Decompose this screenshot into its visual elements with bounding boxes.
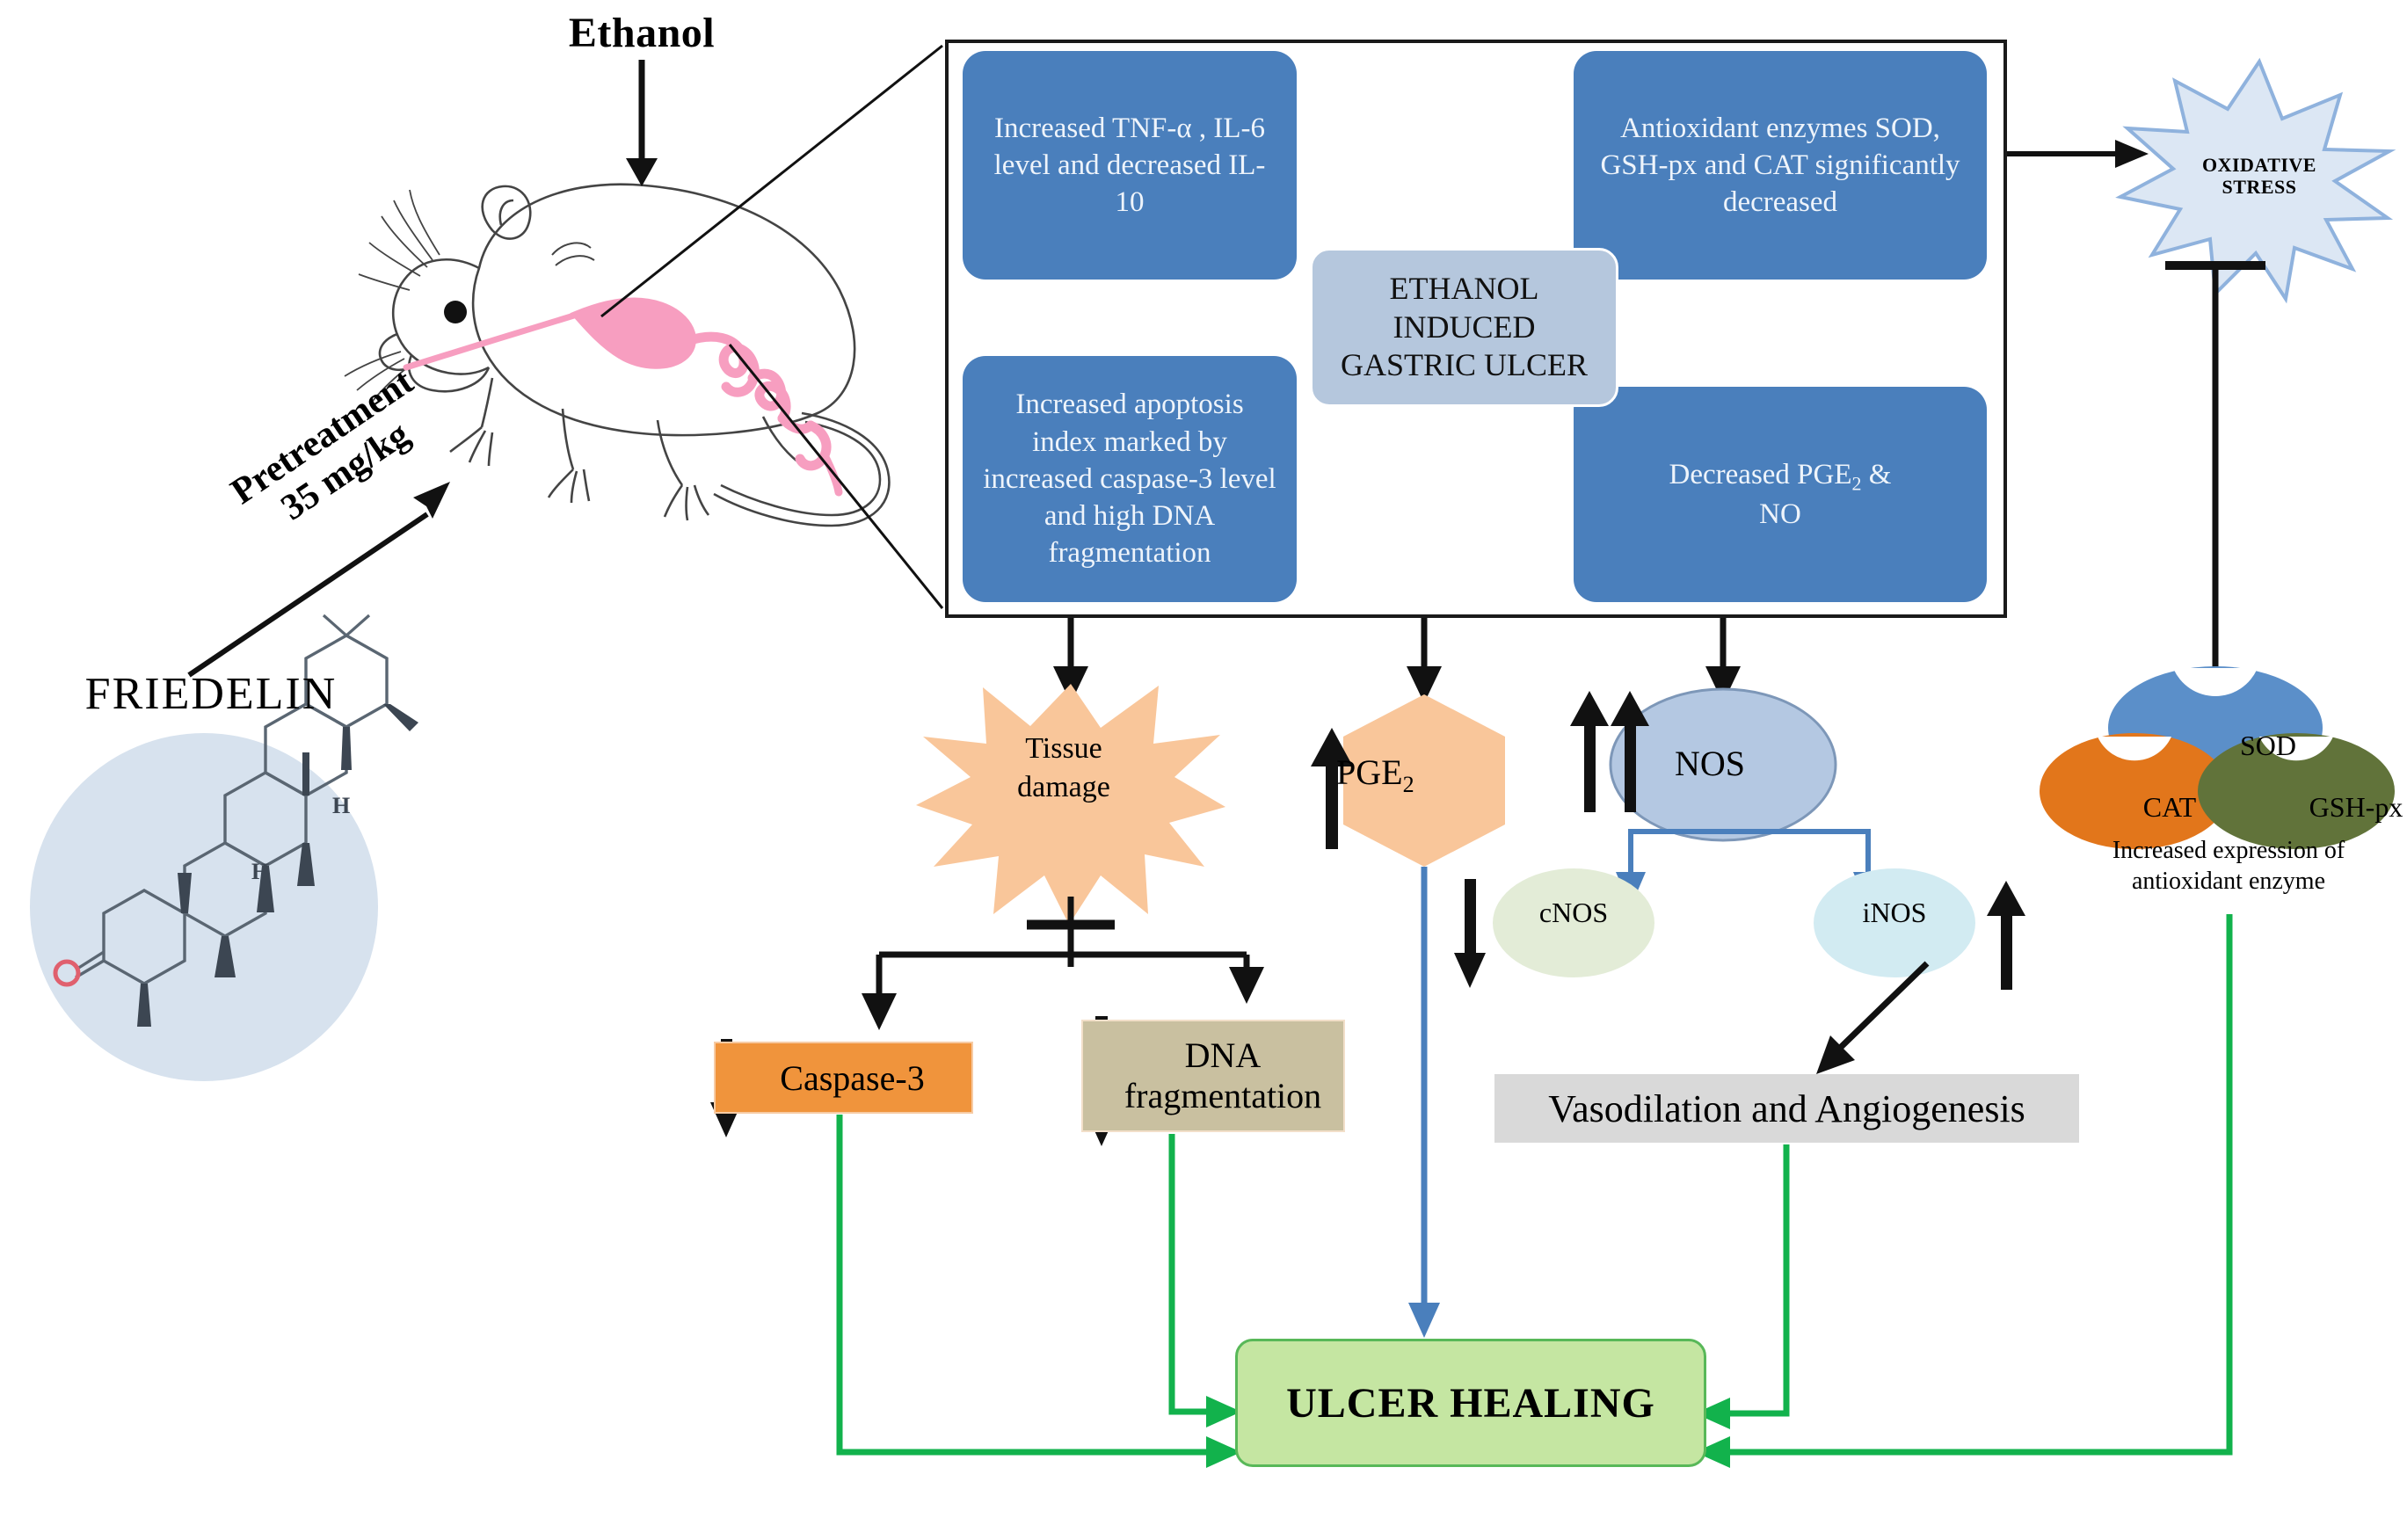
- enzyme-caption: Increased expression of antioxidant enzy…: [2053, 835, 2404, 897]
- pretreatment-label: Pretreatment 35 mg/kg: [143, 307, 525, 601]
- nos-branch-connector: [1631, 832, 1868, 879]
- arrow-antioxidant-to-oxidative-stress: [2004, 140, 2149, 168]
- green-route-vasodilation: [1721, 1144, 1786, 1413]
- sod-label: SOD: [2215, 730, 2321, 762]
- ethanol-arrow: [626, 60, 658, 186]
- pge2-label: PGE2: [1336, 752, 1512, 798]
- oxidative-stress-label: OXIDATIVE STRESS: [2171, 154, 2347, 199]
- center-node-line3: GASTRIC ULCER: [1341, 347, 1588, 382]
- lower-box-vasodilation: Vasodilation and Angiogenesis: [1494, 1074, 2079, 1143]
- pge2-label-sub: 2: [1403, 772, 1414, 797]
- tissue-damage-line1: Tissue: [1025, 732, 1102, 765]
- enzyme-caption-line1: Increased expression of: [2112, 837, 2345, 864]
- gshpx-label: GSH-px: [2286, 791, 2407, 824]
- leader-lines: [601, 46, 942, 608]
- center-node-gastric-ulcer: ETHANOL INDUCED GASTRIC ULCER: [1310, 248, 1618, 407]
- inos-up-arrow: [1987, 881, 2025, 990]
- green-route-antioxidant: [1721, 914, 2229, 1452]
- tissue-damage-label: Tissue damage: [958, 730, 1169, 807]
- sod-shape: [2108, 666, 2323, 789]
- green-route-caspase3: [840, 1115, 1215, 1452]
- arrow-inos-to-vasodilation: [1816, 963, 1927, 1074]
- enzyme-caption-line2: antioxidant enzyme: [2132, 868, 2325, 895]
- friedelin-label: FRIEDELIN: [26, 668, 396, 720]
- effect-box-cytokines: Increased TNF-α , IL-6 level and decreas…: [963, 51, 1297, 280]
- lower-box-dna-fragmentation: DNA fragmentation: [1081, 1020, 1345, 1132]
- inos-label: iNOS: [1815, 897, 1974, 929]
- effect-box-pge2-no: Decreased PGE2 &NO: [1574, 387, 1987, 602]
- center-node-line2: INDUCED: [1393, 309, 1536, 345]
- ethanol-label: Ethanol: [510, 9, 774, 57]
- pge2-label-text: PGE: [1336, 752, 1403, 792]
- cnos-down-arrow: [1454, 879, 1486, 988]
- arrow-pge2-to-ulcer-healing: [1408, 867, 1440, 1338]
- lower-box-caspase3: Caspase-3: [714, 1042, 973, 1114]
- nos-label: NOS: [1622, 743, 1798, 784]
- tissue-damage-line2: damage: [1017, 771, 1110, 803]
- frame-exit-arrows: [1053, 611, 1741, 703]
- diagram-canvas: H H: [0, 0, 2407, 1540]
- cat-label: CAT: [2117, 791, 2222, 824]
- center-node-line1: ETHANOL: [1390, 271, 1539, 306]
- oxidative-stress-line1: OXIDATIVE: [2202, 154, 2316, 176]
- cnos-label: cNOS: [1494, 897, 1653, 929]
- effect-box-apoptosis: Increased apoptosis index marked by incr…: [963, 356, 1297, 602]
- svg-text:H: H: [332, 793, 350, 818]
- oxidative-stress-line2: STRESS: [2222, 176, 2297, 198]
- inhibition-sod-to-oxidative-stress: [2165, 264, 2265, 703]
- pretreatment-line2: 35 mg/kg: [166, 341, 525, 601]
- dna-line1: DNA: [1185, 1035, 1262, 1075]
- pretreatment-line1: Pretreatment: [143, 307, 502, 567]
- effect-box-antioxidants: Antioxidant enzymes SOD, GSH-px and CAT …: [1574, 51, 1987, 280]
- dna-line2: fragmentation: [1124, 1076, 1321, 1115]
- svg-text:H: H: [251, 859, 269, 884]
- inhibition-and-split-arrows: [862, 897, 1264, 1030]
- outcome-box-ulcer-healing: ULCER HEALING: [1235, 1339, 1706, 1467]
- green-route-dna: [1172, 1134, 1215, 1412]
